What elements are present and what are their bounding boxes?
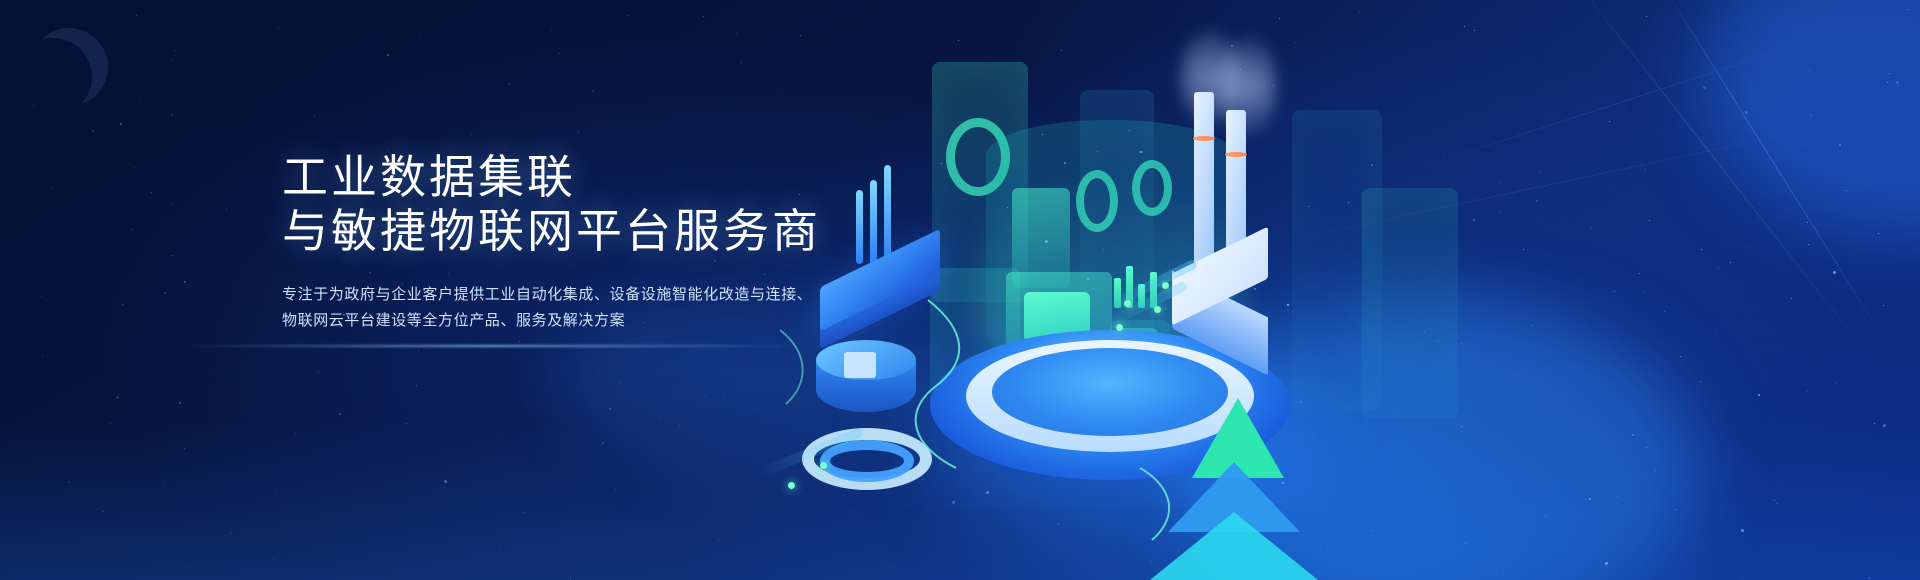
star-dot — [139, 101, 140, 102]
router-antenna-icon — [856, 190, 863, 264]
star-dot — [179, 402, 181, 404]
isometric-illustration — [780, 0, 1920, 580]
smokestack-ring — [1225, 152, 1247, 157]
star-dot — [33, 105, 34, 106]
star-dot — [458, 379, 459, 380]
star-dot — [387, 54, 389, 56]
star-dot — [229, 185, 230, 186]
node-dot-icon — [1116, 324, 1123, 331]
star-dot — [754, 431, 755, 432]
star-dot — [501, 509, 502, 510]
star-dot — [165, 492, 166, 493]
star-dot — [171, 255, 172, 256]
star-dot — [189, 565, 190, 566]
star-dot — [551, 30, 552, 31]
star-dot — [164, 292, 166, 294]
star-dot — [171, 204, 172, 205]
star-dot — [79, 357, 80, 358]
star-dot — [171, 60, 172, 61]
star-dot — [103, 511, 104, 512]
star-dot — [41, 296, 42, 297]
star-dot — [5, 70, 6, 71]
star-dot — [60, 245, 61, 246]
router-antenna-icon — [884, 165, 891, 264]
star-dot — [314, 116, 315, 117]
hero-banner: 工业数据集联 与敏捷物联网平台服务商 专注于为政府与企业客户提供工业自动化集成、… — [0, 0, 1920, 580]
star-dot — [669, 336, 670, 337]
star-dot — [42, 355, 43, 356]
star-dot — [175, 50, 176, 51]
star-dot — [559, 53, 560, 54]
star-dot — [705, 396, 706, 397]
hero-subtitle-line-2: 物联网云平台建设等全方位产品、服务及解决方案 — [282, 308, 812, 334]
star-dot — [416, 385, 417, 386]
moon-decoration — [30, 28, 108, 106]
star-dot — [754, 410, 755, 411]
star-dot — [355, 337, 356, 338]
star-dot — [749, 554, 750, 555]
star-dot — [136, 15, 137, 16]
star-dot — [295, 433, 296, 434]
star-dot — [519, 341, 520, 342]
star-dot — [471, 134, 472, 135]
star-dot — [592, 90, 594, 92]
star-dot — [420, 32, 421, 33]
star-dot — [150, 192, 152, 194]
star-dot — [173, 255, 174, 256]
star-dot — [230, 532, 232, 534]
star-dot — [615, 489, 616, 490]
star-dot — [703, 16, 704, 17]
star-dot — [514, 34, 515, 35]
star-dot — [508, 83, 510, 85]
cylinder-notch — [844, 352, 876, 378]
star-dot — [477, 380, 478, 381]
star-dot — [718, 540, 719, 541]
hero-subtitle-line-1: 专注于为政府与企业客户提供工业自动化集成、设备设施智能化改造与连接、 — [282, 282, 812, 308]
star-dot — [736, 33, 737, 34]
star-dot — [134, 167, 135, 168]
star-dot — [120, 123, 122, 125]
star-dot — [570, 579, 571, 580]
star-dot — [278, 27, 279, 28]
star-dot — [318, 371, 319, 372]
star-dot — [619, 382, 620, 383]
star-dot — [339, 120, 340, 121]
star-dot — [578, 131, 579, 132]
star-dot — [131, 229, 132, 230]
node-dot-icon — [1154, 306, 1161, 313]
star-dot — [724, 395, 725, 396]
star-dot — [586, 443, 587, 444]
node-dot-icon — [1124, 300, 1131, 307]
star-dot — [609, 408, 611, 410]
star-dot — [572, 478, 573, 479]
star-dot — [276, 489, 277, 490]
star-dot — [92, 130, 94, 132]
factory-smokestack-icon — [1194, 92, 1214, 268]
star-dot — [184, 448, 185, 449]
star-dot — [426, 460, 427, 461]
star-dot — [444, 480, 447, 483]
star-dot — [122, 304, 124, 306]
star-dot — [220, 95, 221, 96]
star-dot — [51, 187, 52, 188]
star-dot — [110, 423, 111, 424]
star-dot — [116, 396, 119, 399]
star-dot — [226, 209, 227, 210]
star-dot — [206, 51, 207, 52]
star-dot — [523, 512, 524, 513]
star-dot — [711, 76, 712, 77]
star-dot — [500, 545, 501, 546]
smokestack-ring — [1193, 136, 1215, 141]
star-dot — [68, 481, 70, 483]
pyramid-icon — [1150, 512, 1318, 580]
star-dot — [659, 418, 660, 419]
star-dot — [627, 15, 628, 16]
star-dot — [406, 423, 407, 424]
star-dot — [602, 442, 604, 444]
star-dot — [679, 425, 680, 426]
node-dot-icon — [820, 462, 827, 469]
hero-subtitle: 专注于为政府与企业客户提供工业自动化集成、设备设施智能化改造与连接、 物联网云平… — [282, 282, 812, 334]
star-dot — [418, 350, 419, 351]
star-dot — [114, 521, 115, 522]
star-dot — [20, 423, 21, 424]
headline-underline-glow — [180, 345, 800, 347]
star-dot — [339, 413, 341, 415]
star-dot — [636, 338, 637, 339]
star-dot — [184, 281, 186, 283]
node-dot-icon — [1162, 282, 1169, 289]
star-dot — [740, 61, 743, 64]
star-dot — [273, 559, 274, 560]
node-dot-icon — [788, 482, 795, 489]
router-antenna-icon — [870, 180, 877, 264]
star-dot — [164, 481, 165, 482]
star-dot — [171, 114, 173, 116]
glass-panel-icon — [1362, 188, 1458, 418]
